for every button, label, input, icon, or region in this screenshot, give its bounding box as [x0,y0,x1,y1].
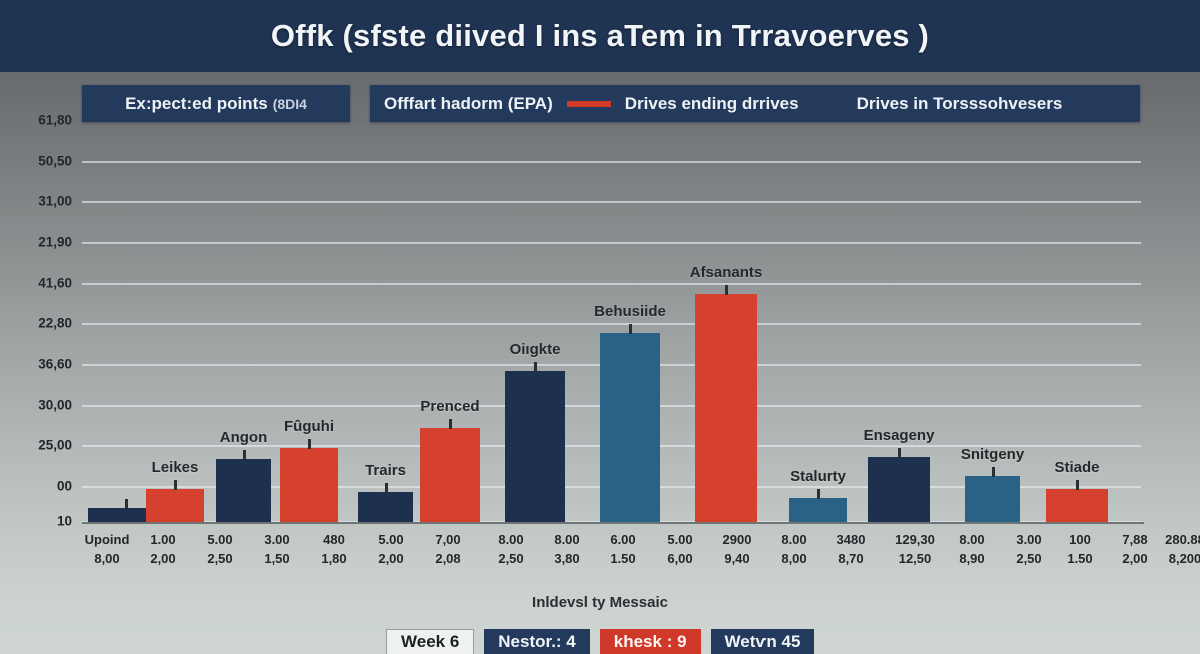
x-tick-line-2: 8,00 [85,549,130,568]
bar-value-label: Prenced [420,398,479,415]
x-tick-line-2: 2,50 [207,549,232,568]
bar-value-label: Snitgeny [961,446,1024,463]
x-axis-tick-label: 7,002,08 [435,530,460,568]
x-tick-line-2: 8,70 [837,549,866,568]
x-tick-line-1: 6.00 [610,530,635,549]
x-tick-line-1: 8.00 [554,530,579,549]
x-axis-tick-label: 29009,40 [723,530,752,568]
x-tick-line-2: 8,200 [1165,549,1200,568]
x-tick-line-2: 2,00 [378,549,403,568]
bar[interactable]: Stalurty [789,498,847,522]
x-tick-line-1: 8.00 [959,530,984,549]
legend-label-offart-hadorm: Offfart hadorm (EPA) [384,94,553,114]
x-tick-line-1: 129,30 [895,530,935,549]
x-tick-line-2: 2,50 [498,549,523,568]
x-axis-tick-label: 280.888,200 [1165,530,1200,568]
bar-value-label: Oiıgkte [510,341,561,358]
y-axis-tick-label: 10 [10,514,72,529]
legend-label-expected-points: Ex:pect:ed points [125,94,268,114]
x-tick-line-2: 3,80 [554,549,579,568]
legend-sublabel-expected-points: (8DI4 [273,96,307,112]
x-axis-tick-label: 5.006,00 [667,530,692,568]
x-tick-line-1: 480 [321,530,346,549]
gridline [82,323,1141,325]
y-axis-tick-label: 31,00 [10,194,72,209]
x-axis-tick-label: 129,3012,50 [895,530,935,568]
legend-group-series[interactable]: Offfart hadorm (EPA) Drives ending drriv… [370,85,1140,122]
x-tick-line-2: 2,08 [435,549,460,568]
x-axis-tick-label: 8.008,90 [959,530,984,568]
bar-error-tick [992,467,995,477]
x-tick-line-2: 2,00 [150,549,175,568]
x-tick-line-2: 6,00 [667,549,692,568]
x-tick-line-2: 1.50 [610,549,635,568]
legend-label-drives-turnovers: Drives in Torsssohvesers [857,94,1063,114]
x-tick-line-1: 8.00 [498,530,523,549]
x-tick-line-1: 5.00 [207,530,232,549]
x-tick-line-1: 100 [1067,530,1092,549]
y-axis-tick-label: 36,60 [10,357,72,372]
bar[interactable]: Afsanants [695,294,757,522]
gridline [82,283,1141,285]
gridline [82,161,1141,163]
x-tick-line-1: 1.00 [150,530,175,549]
bar-error-tick [1076,480,1079,490]
bar[interactable]: Angon [216,459,271,522]
bar-value-label: Fûguhi [284,418,334,435]
bar-value-label: Stalurty [790,468,846,485]
bar[interactable]: Behusiide [600,333,660,522]
x-axis-tick-label: 4801,80 [321,530,346,568]
x-axis-tick-label: 8.003,80 [554,530,579,568]
x-tick-line-1: 280.88 [1165,530,1200,549]
x-tick-line-2: 12,50 [895,549,935,568]
bar[interactable]: Stiade [1046,489,1108,522]
bar-error-tick [817,489,820,499]
footer-button[interactable]: Week 6 [386,629,474,654]
bar-error-tick [534,362,537,372]
bar-error-tick [898,448,901,458]
bar-error-tick [449,419,452,429]
x-tick-line-2: 2,50 [1016,549,1041,568]
x-tick-line-1: 3.00 [264,530,289,549]
x-axis-tick-label: 6.001.50 [610,530,635,568]
x-axis-tick-label: 34808,70 [837,530,866,568]
x-tick-line-1: 5.00 [378,530,403,549]
bar-error-tick [725,285,728,295]
x-axis-tick-label: 5.002,00 [378,530,403,568]
x-axis: Upoind8,001.002,005.002,503.001,504801,8… [0,530,1200,576]
bar[interactable]: Oiıgkte [505,371,565,522]
x-tick-line-1: Upoind [85,530,130,549]
x-tick-line-2: 1,80 [321,549,346,568]
page-title: Offk (sfste diived I ins aTem in Trravoe… [271,18,929,54]
x-axis-tick-label: 1001.50 [1067,530,1092,568]
bar[interactable]: Trairs [358,492,413,522]
x-axis-tick-label: 3.002,50 [1016,530,1041,568]
y-axis-tick-label: 30,00 [10,398,72,413]
x-tick-line-1: 3.00 [1016,530,1041,549]
footer-caption: Inldevsl ty Messaic [0,594,1200,611]
bar[interactable]: Fûguhi [280,448,338,522]
y-axis-tick-label: 61,80 [10,113,72,128]
bar-value-label: Leikes [152,459,199,476]
gridline [82,201,1141,203]
bar-error-tick [243,450,246,460]
x-tick-line-2: 2,00 [1122,549,1147,568]
x-axis-tick-label: 8.008,00 [781,530,806,568]
bar-value-label: Stiade [1054,459,1099,476]
x-tick-line-2: 8,00 [781,549,806,568]
bar-error-tick [629,324,632,334]
title-bar: Offk (sfste diived I ins aTem in Trravoe… [0,0,1200,72]
chart-page: Offk (sfste diived I ins aTem in Trravoe… [0,0,1200,654]
x-axis-tick-label: 8.002,50 [498,530,523,568]
bar-error-tick [125,499,128,509]
x-axis-tick-label: 7,882,00 [1122,530,1147,568]
bar-error-tick [385,483,388,493]
x-tick-line-2: 1.50 [1067,549,1092,568]
x-axis-tick-label: 3.001,50 [264,530,289,568]
footer-button-group: Week 6Nestor.: 4khesk : 9Wetѵn 45 [386,629,814,654]
x-tick-line-1: 2900 [723,530,752,549]
legend-label-drives-ending: Drives ending drrives [625,94,799,114]
x-axis-tick-label: 1.002,00 [150,530,175,568]
y-axis-tick-label: 25,00 [10,438,72,453]
x-tick-line-2: 1,50 [264,549,289,568]
x-tick-line-1: 5.00 [667,530,692,549]
gridline [82,242,1141,244]
bar[interactable]: Leikes [146,489,204,522]
y-axis-tick-label: 21,90 [10,235,72,250]
plot-area: LeikesAngonFûguhiTrairsPrencedOiıgkteBeh… [82,130,1141,524]
legend-swatch-red-line [567,101,611,107]
x-tick-line-1: 7,00 [435,530,460,549]
x-axis-tick-label: Upoind8,00 [85,530,130,568]
x-tick-line-2: 8,90 [959,549,984,568]
bar-value-label: Angon [220,429,267,446]
x-tick-line-1: 7,88 [1122,530,1147,549]
y-axis-tick-label: 41,60 [10,276,72,291]
x-axis-line [82,522,1144,524]
legend-group-expected-points[interactable]: Ex:pect:ed points (8DI4 [82,85,350,122]
bar-value-label: Ensageny [864,427,935,444]
footer-button[interactable]: Wetѵn 45 [711,629,815,654]
bar-value-label: Behusiide [594,303,666,320]
bar-value-label: Trairs [365,462,406,479]
bar[interactable]: Ensageny [868,457,930,522]
footer-button[interactable]: Nestor.: 4 [484,629,589,654]
x-tick-line-2: 9,40 [723,549,752,568]
y-axis-tick-label: 22,80 [10,316,72,331]
bar-error-tick [174,480,177,490]
bar-value-label: Afsanants [690,264,763,281]
bar[interactable]: Snitgeny [965,476,1020,522]
y-axis-tick-label: 50,50 [10,154,72,169]
bar-error-tick [308,439,311,449]
bar[interactable]: Prenced [420,428,480,522]
footer-button[interactable]: khesk : 9 [600,629,701,654]
x-tick-line-1: 3480 [837,530,866,549]
x-tick-line-1: 8.00 [781,530,806,549]
x-axis-tick-label: 5.002,50 [207,530,232,568]
y-axis-tick-label: 00 [10,479,72,494]
